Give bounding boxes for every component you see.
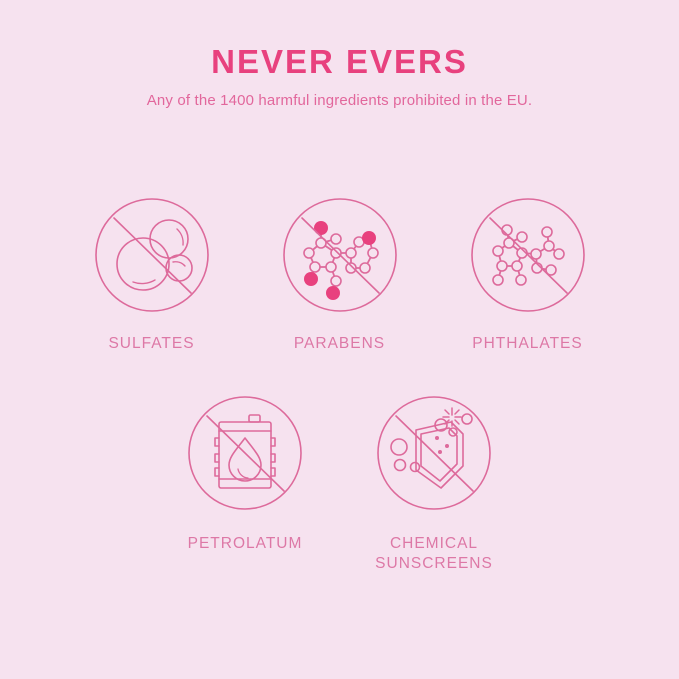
page-title: NEVER EVERS [0, 44, 679, 80]
no-phthalates-molecule-icon [469, 196, 587, 314]
ingredient-item-chemical-sunscreens: CHEMICAL SUNSCREENS [340, 394, 529, 575]
ingredient-item-sulfates: SULFATES [58, 196, 246, 354]
header: NEVER EVERS Any of the 1400 harmful ingr… [0, 44, 679, 110]
ingredient-item-phthalates: PHTHALATES [434, 196, 622, 354]
never-evers-poster: NEVER EVERS Any of the 1400 harmful ingr… [0, 0, 679, 679]
ingredient-label: SULFATES [108, 334, 194, 354]
no-chemical-sunscreens-shield-icon [375, 394, 493, 512]
icon-row-bottom: PETROLATUM [0, 394, 679, 575]
ingredient-item-parabens: PARABENS [246, 196, 434, 354]
ingredient-label: PHTHALATES [472, 334, 583, 354]
ingredient-label: CHEMICAL SUNSCREENS [375, 534, 493, 575]
no-sulfates-bubbles-icon [93, 196, 211, 314]
no-parabens-molecule-icon [281, 196, 399, 314]
page-subtitle: Any of the 1400 harmful ingredients proh… [0, 92, 679, 110]
ingredient-label: PETROLATUM [188, 534, 303, 554]
icon-row-top: SULFATES [0, 196, 679, 354]
ingredient-label: PARABENS [294, 334, 385, 354]
no-petrolatum-barrel-icon [186, 394, 304, 512]
ingredient-item-petrolatum: PETROLATUM [151, 394, 340, 575]
